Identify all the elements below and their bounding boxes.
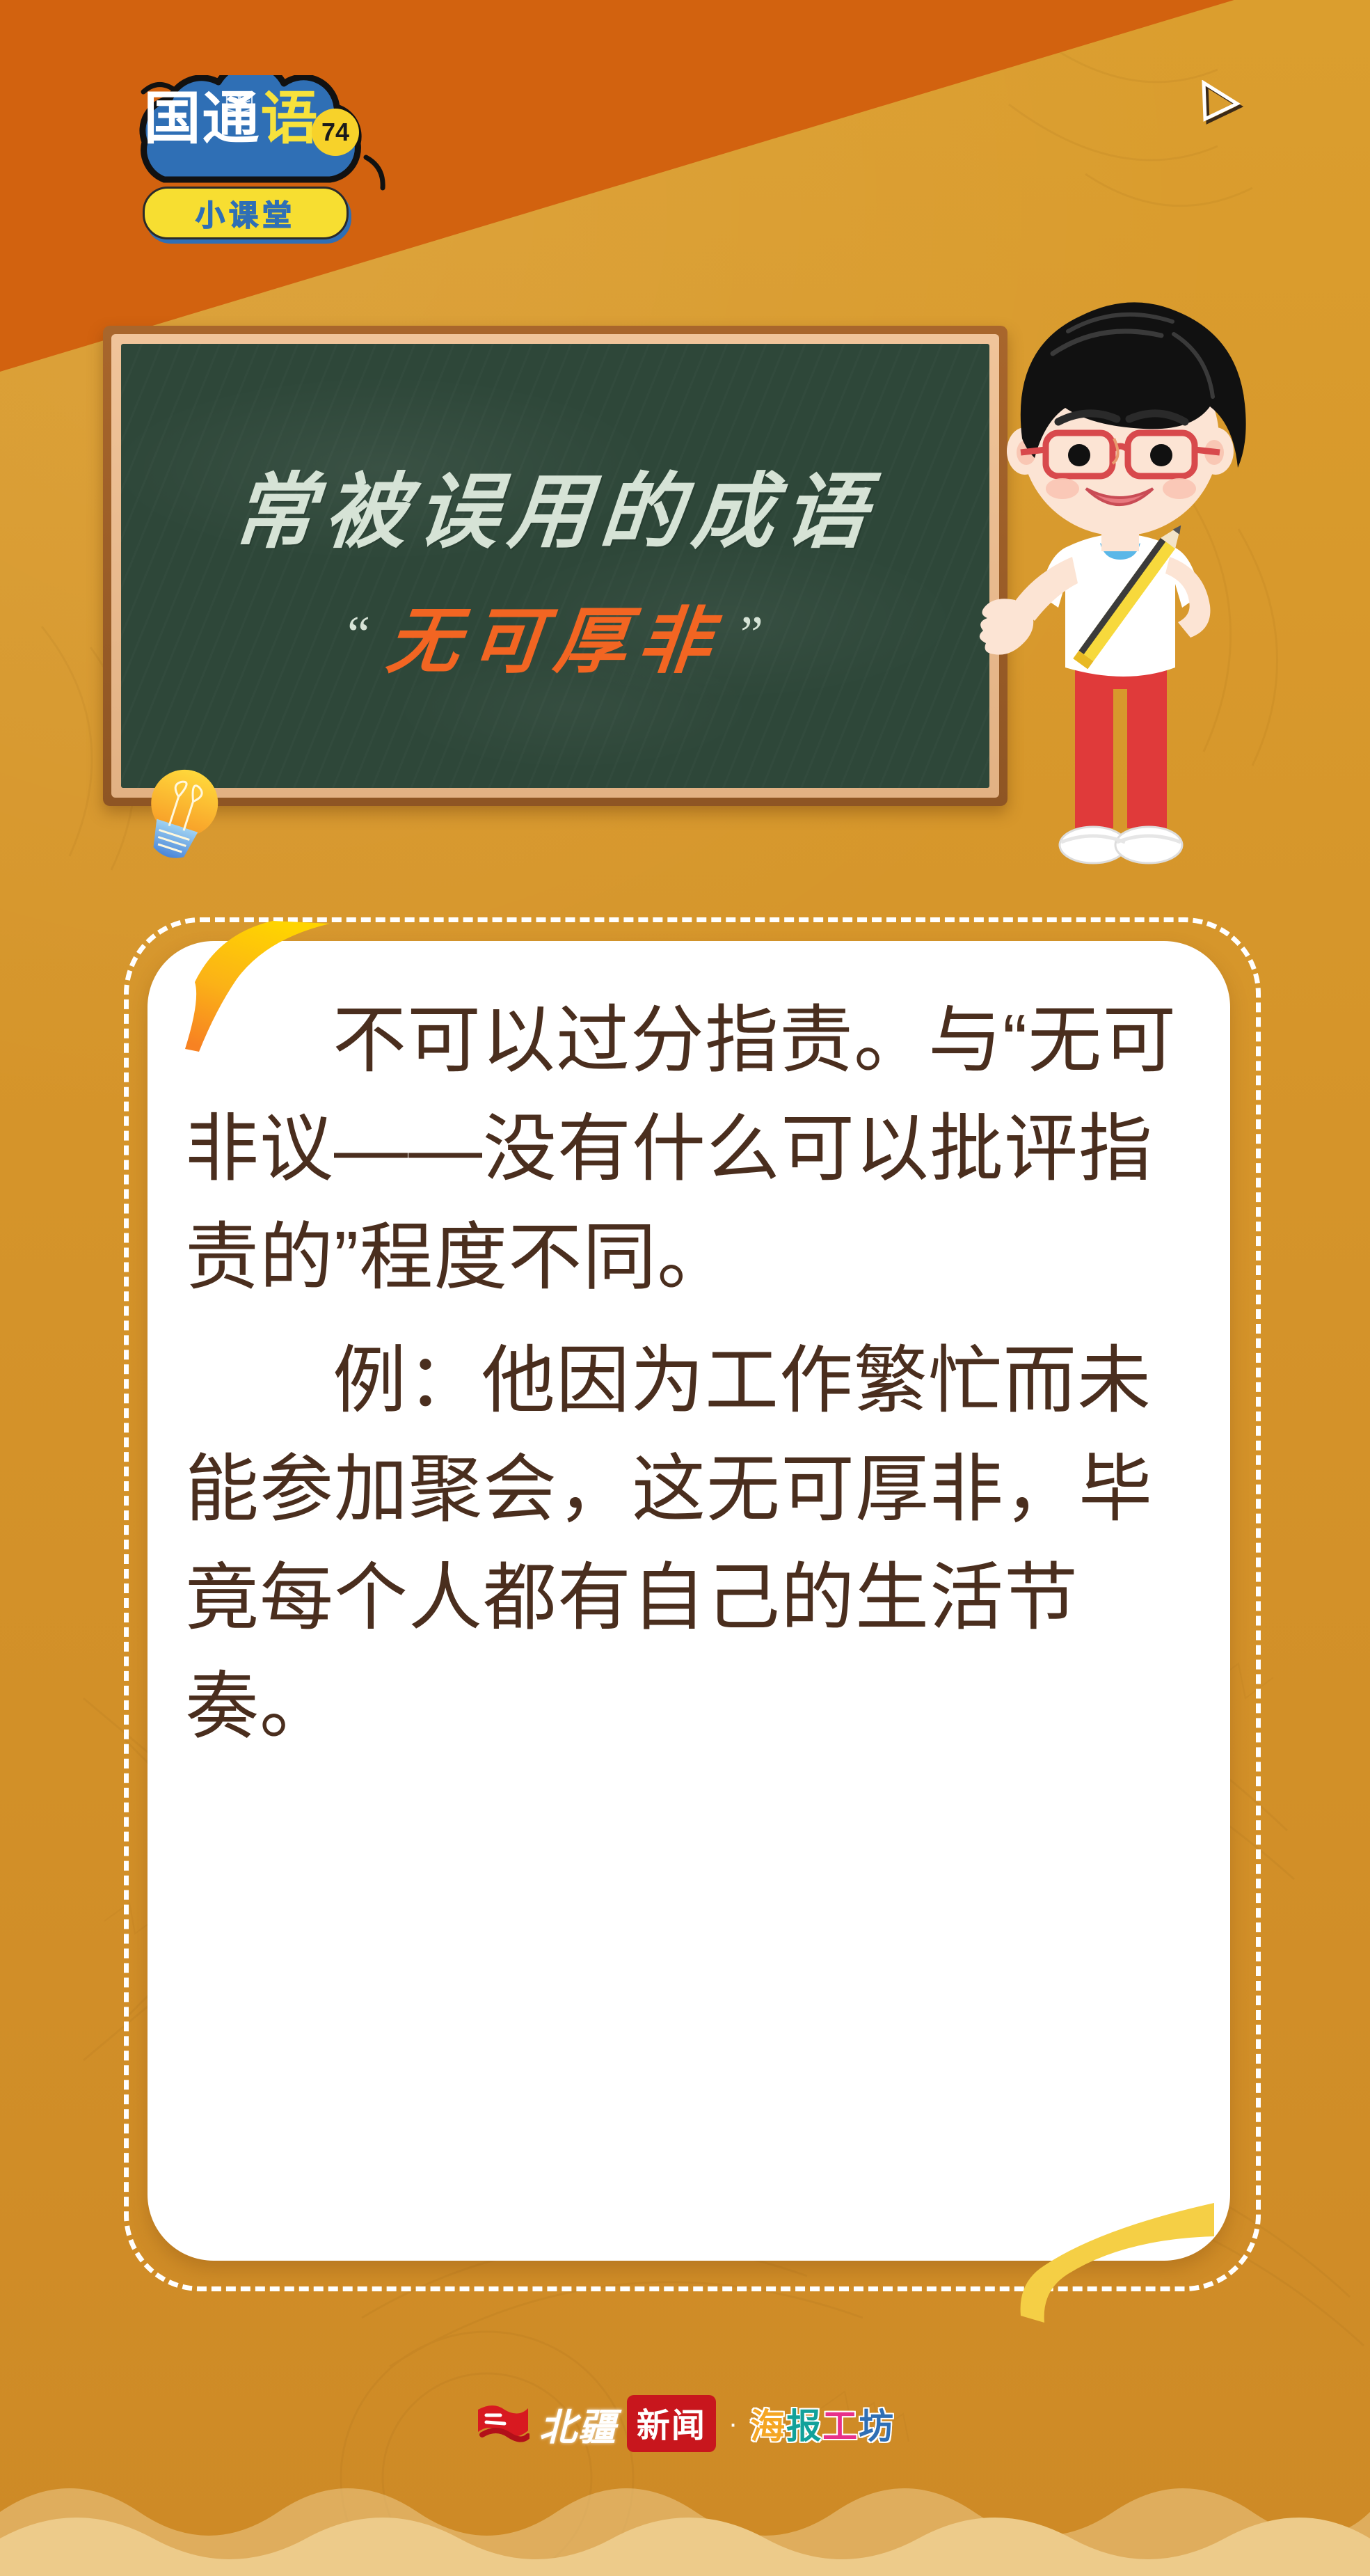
red-flag-icon: [475, 2403, 529, 2444]
blackboard: 常被误用的成语 “ 无可厚非 ”: [103, 326, 1007, 806]
card-text-body: 不可以过分指责。与“无可非议——没有什么可以批评指责的”程度不同。 例：他因为工…: [185, 987, 1188, 1777]
quote-close: ”: [740, 609, 763, 661]
footer-workshop: 海报工坊: [750, 2399, 895, 2449]
student-boy-illustration: [971, 230, 1263, 877]
footer-brand: 北疆: [539, 2396, 617, 2451]
blackboard-title: 常被误用的成语: [229, 445, 882, 564]
footer-brand-badge: 新闻: [627, 2395, 716, 2452]
chalkboard-surface: 常被误用的成语 “ 无可厚非 ”: [121, 344, 989, 788]
footer-workshop-char-2: 报: [786, 2407, 822, 2446]
blackboard-frame-inner: 常被误用的成语 “ 无可厚非 ”: [111, 334, 999, 798]
ribbon-bottom-right: [915, 2196, 1214, 2405]
footer-workshop-char-1: 海: [750, 2407, 786, 2446]
footer-branding: 北疆 新闻 · 海报工坊: [0, 2389, 1370, 2458]
footer-separator: ·: [728, 2408, 738, 2440]
episode-number-badge: 74: [312, 109, 359, 156]
logo-banner: 小课堂: [143, 187, 349, 239]
blackboard-idiom-row: “ 无可厚非 ”: [347, 582, 763, 687]
logo-badge[interactable]: 国通语 74 小课堂: [97, 75, 397, 249]
card-paragraph-2: 例：他因为工作繁忙而未能参加聚会，这无可厚非，毕竟每个人都有自己的生活节奏。: [185, 1327, 1188, 1761]
bottom-scallop-border: [0, 2472, 1370, 2576]
logo-banner-label: 小课堂: [196, 192, 296, 235]
footer-workshop-char-4: 坊: [859, 2407, 895, 2446]
blackboard-idiom: 无可厚非: [383, 582, 728, 687]
triangle-outline-icon: [1198, 80, 1247, 127]
footer-workshop-char-3: 工: [822, 2407, 859, 2446]
card-paragraph-1: 不可以过分指责。与“无可非议——没有什么可以批评指责的”程度不同。: [185, 987, 1188, 1312]
quote-open: “: [347, 609, 370, 661]
poster-root: 国通语 74 小课堂 常被误用的成语 “ 无可厚非 ”: [0, 0, 1370, 2576]
